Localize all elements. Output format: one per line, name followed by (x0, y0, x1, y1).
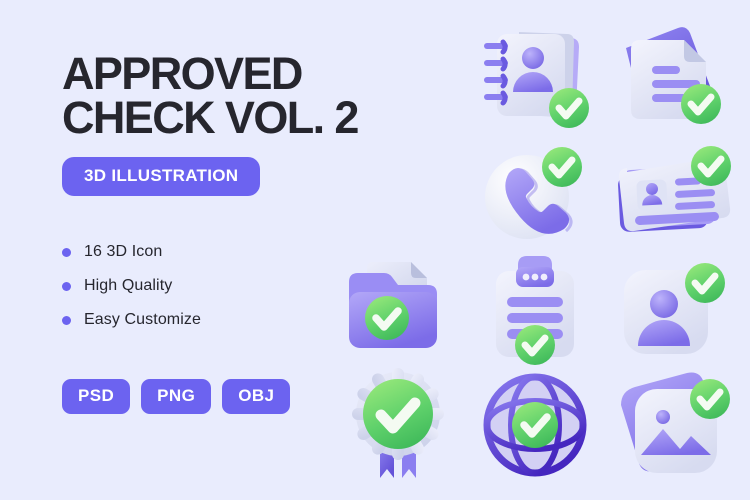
illustration-pack-poster: APPROVED CHECK VOL. 2 3D ILLUSTRATION 16… (0, 0, 750, 500)
icon-contact-book[interactable] (467, 22, 604, 137)
icon-award-badge[interactable] (330, 366, 467, 484)
page-title: APPROVED CHECK VOL. 2 (62, 52, 362, 139)
bullet-dot-icon (62, 282, 71, 291)
feature-item-0: 16 3D Icon (62, 243, 362, 261)
icon-cell-empty (330, 22, 467, 137)
icon-phone-call[interactable] (467, 137, 604, 252)
icon-document[interactable] (603, 22, 740, 137)
icon-user-profile[interactable] (603, 252, 740, 366)
left-info-panel: APPROVED CHECK VOL. 2 3D ILLUSTRATION 16… (62, 52, 362, 414)
icon-clipboard[interactable] (467, 252, 604, 366)
icon-grid (330, 22, 740, 484)
format-badge-group: PSD PNG OBJ (62, 379, 362, 414)
icon-cell-empty (330, 137, 467, 252)
feature-label: 16 3D Icon (84, 243, 162, 261)
feature-item-2: Easy Customize (62, 311, 362, 329)
clip-dots (523, 274, 548, 281)
feature-list: 16 3D Icon High Quality Easy Customize (62, 243, 362, 329)
format-badge-psd: PSD (62, 379, 130, 414)
icon-image-photo[interactable] (603, 366, 740, 484)
feature-label: High Quality (84, 277, 172, 295)
feature-item-1: High Quality (62, 277, 362, 295)
icon-id-card[interactable] (603, 137, 740, 252)
bullet-dot-icon (62, 316, 71, 325)
subtitle-badge: 3D ILLUSTRATION (62, 157, 260, 196)
icon-globe[interactable] (467, 366, 604, 484)
icon-folder[interactable] (330, 252, 467, 366)
feature-label: Easy Customize (84, 311, 201, 329)
format-badge-obj: OBJ (222, 379, 290, 414)
bullet-dot-icon (62, 248, 71, 257)
format-badge-png: PNG (141, 379, 211, 414)
